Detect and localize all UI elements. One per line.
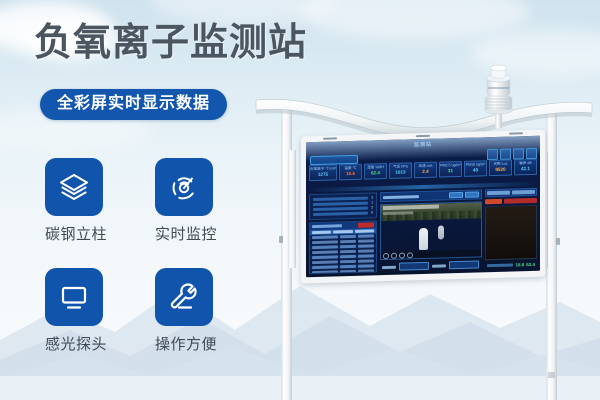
live-camera-feed[interactable] (380, 201, 482, 260)
summary-row: 0 (313, 210, 373, 216)
secondary-camera-view[interactable] (485, 205, 537, 260)
fullscreen-icon[interactable] (407, 252, 413, 258)
metric-card-7[interactable]: 光照 Lux8520 (489, 160, 512, 177)
right-readout-row: 18.6 62.4 (485, 261, 537, 269)
video-tab[interactable] (465, 191, 479, 197)
table-cell (340, 260, 356, 263)
layers-icon (45, 158, 103, 216)
readout-bar (487, 263, 513, 267)
feature-item-2[interactable]: 感光探头 (45, 268, 155, 378)
column-header (312, 231, 331, 235)
metric-card-2[interactable]: 湿度 %RH62.4 (364, 163, 387, 180)
preset-select[interactable] (449, 260, 479, 269)
table-cell (340, 235, 356, 238)
play-icon[interactable] (383, 252, 389, 258)
metric-value: 18.6 (340, 171, 361, 178)
video-title (383, 195, 419, 199)
tab-item[interactable] (512, 190, 535, 195)
feature-label: 操作方便 (155, 336, 217, 353)
table-row[interactable] (310, 273, 376, 274)
page-title: 负氧离子监测站 (34, 20, 307, 66)
metric-card-1[interactable]: 温度 ℃18.6 (339, 164, 362, 181)
right-panel-tabs[interactable] (485, 188, 537, 197)
metric-value: 8520 (490, 167, 511, 174)
metric-card-4[interactable]: 风速 m/s2.4 (414, 162, 437, 179)
select-label (432, 264, 446, 267)
table-cell (358, 244, 374, 247)
snapshot-icon[interactable] (399, 252, 405, 258)
select-label (382, 265, 396, 268)
alarm-badge (485, 199, 502, 204)
video-footer-controls[interactable] (380, 259, 482, 272)
tab-item[interactable] (487, 191, 510, 196)
toolbar-icon[interactable] (513, 148, 524, 159)
feature-list: 碳钢立柱 实时监控 感光探头 (45, 158, 265, 378)
feature-label: 实时监控 (155, 226, 217, 243)
cloud (300, 0, 530, 40)
table-cell (340, 250, 356, 253)
center-column (380, 189, 482, 272)
column-header (355, 229, 374, 233)
table-cell (358, 259, 374, 262)
table-cell (340, 265, 356, 268)
bezel-tick (323, 137, 337, 139)
feature-label: 感光探头 (45, 336, 107, 353)
metric-value: 48 (465, 167, 486, 174)
bezel-tick (416, 135, 430, 137)
camera-subject (419, 228, 428, 250)
dashboard-screen[interactable]: 监测站 负氧离子 个/cm³1275温度 ℃18.6湿度 %RH62.4气压 h… (306, 136, 540, 278)
radar-monitor-icon (155, 158, 213, 216)
dashboard-body: 3 1 2 0 (309, 188, 537, 274)
right-column: 18.6 62.4 (485, 188, 537, 269)
table-cell (312, 270, 338, 274)
table-cell (340, 270, 356, 273)
table-cell (340, 240, 356, 243)
metric-value: 42.1 (515, 166, 536, 173)
table-action-button[interactable] (358, 222, 374, 227)
readout-value: 62.4 (526, 262, 535, 267)
table-cell (358, 239, 374, 242)
video-tab[interactable] (449, 192, 463, 198)
table-body (310, 233, 376, 274)
table-cell (358, 254, 374, 257)
metric-card-6[interactable]: PM10 ug/m³48 (464, 160, 487, 177)
video-header[interactable] (380, 189, 482, 202)
left-column: 3 1 2 0 (309, 192, 377, 274)
metric-card-8[interactable]: 噪声 dB42.1 (514, 159, 537, 176)
metric-value: 1275 (310, 171, 336, 178)
metric-value: 1013 (390, 169, 411, 176)
feature-label: 碳钢立柱 (45, 226, 107, 243)
promo-banner: 负氧离子监测站 全彩屏实时显示数据 (0, 0, 600, 400)
cloud (470, 30, 600, 76)
display-monitor-icon (45, 268, 103, 326)
feature-item-1[interactable]: 实时监控 (155, 158, 265, 268)
metric-value: 2.4 (415, 169, 436, 176)
table-cell (358, 249, 374, 252)
summary-stats-card: 3 1 2 0 (309, 192, 377, 220)
feature-item-3[interactable]: 操作方便 (155, 268, 265, 378)
table-cell (340, 245, 356, 248)
table-cell (358, 269, 374, 272)
toolbar-icon[interactable] (526, 148, 537, 159)
pause-icon[interactable] (391, 252, 397, 258)
toolbar-icon[interactable] (487, 149, 498, 160)
metric-card-5[interactable]: PM2.5 ug/m³31 (439, 161, 462, 178)
metric-card-3[interactable]: 气压 hPa1013 (389, 162, 412, 179)
metric-value: 62.4 (365, 170, 386, 177)
table-title (312, 224, 342, 228)
bezel-tick (509, 132, 523, 134)
alarm-badge (504, 198, 537, 204)
data-table[interactable] (309, 220, 377, 274)
channel-select[interactable] (399, 262, 429, 271)
readout-value: 18.6 (515, 262, 524, 267)
video-controls[interactable] (381, 249, 481, 259)
table-row[interactable] (310, 268, 376, 274)
display-panel[interactable]: 监测站 负氧离子 个/cm³1275温度 ℃18.6湿度 %RH62.4气压 h… (301, 130, 545, 284)
wrench-icon (155, 268, 213, 326)
table-cell (340, 255, 356, 258)
subtitle-badge: 全彩屏实时显示数据 (40, 89, 227, 120)
column-header (333, 230, 352, 234)
table-cell (358, 264, 374, 267)
camera-subject (438, 226, 444, 240)
feature-item-0[interactable]: 碳钢立柱 (45, 158, 155, 268)
alarm-badges (485, 198, 537, 204)
table-cell (358, 234, 374, 237)
metric-value: 31 (440, 168, 461, 175)
metric-card-0[interactable]: 负氧离子 个/cm³1275 (309, 164, 337, 181)
toolbar-icon[interactable] (500, 149, 511, 160)
